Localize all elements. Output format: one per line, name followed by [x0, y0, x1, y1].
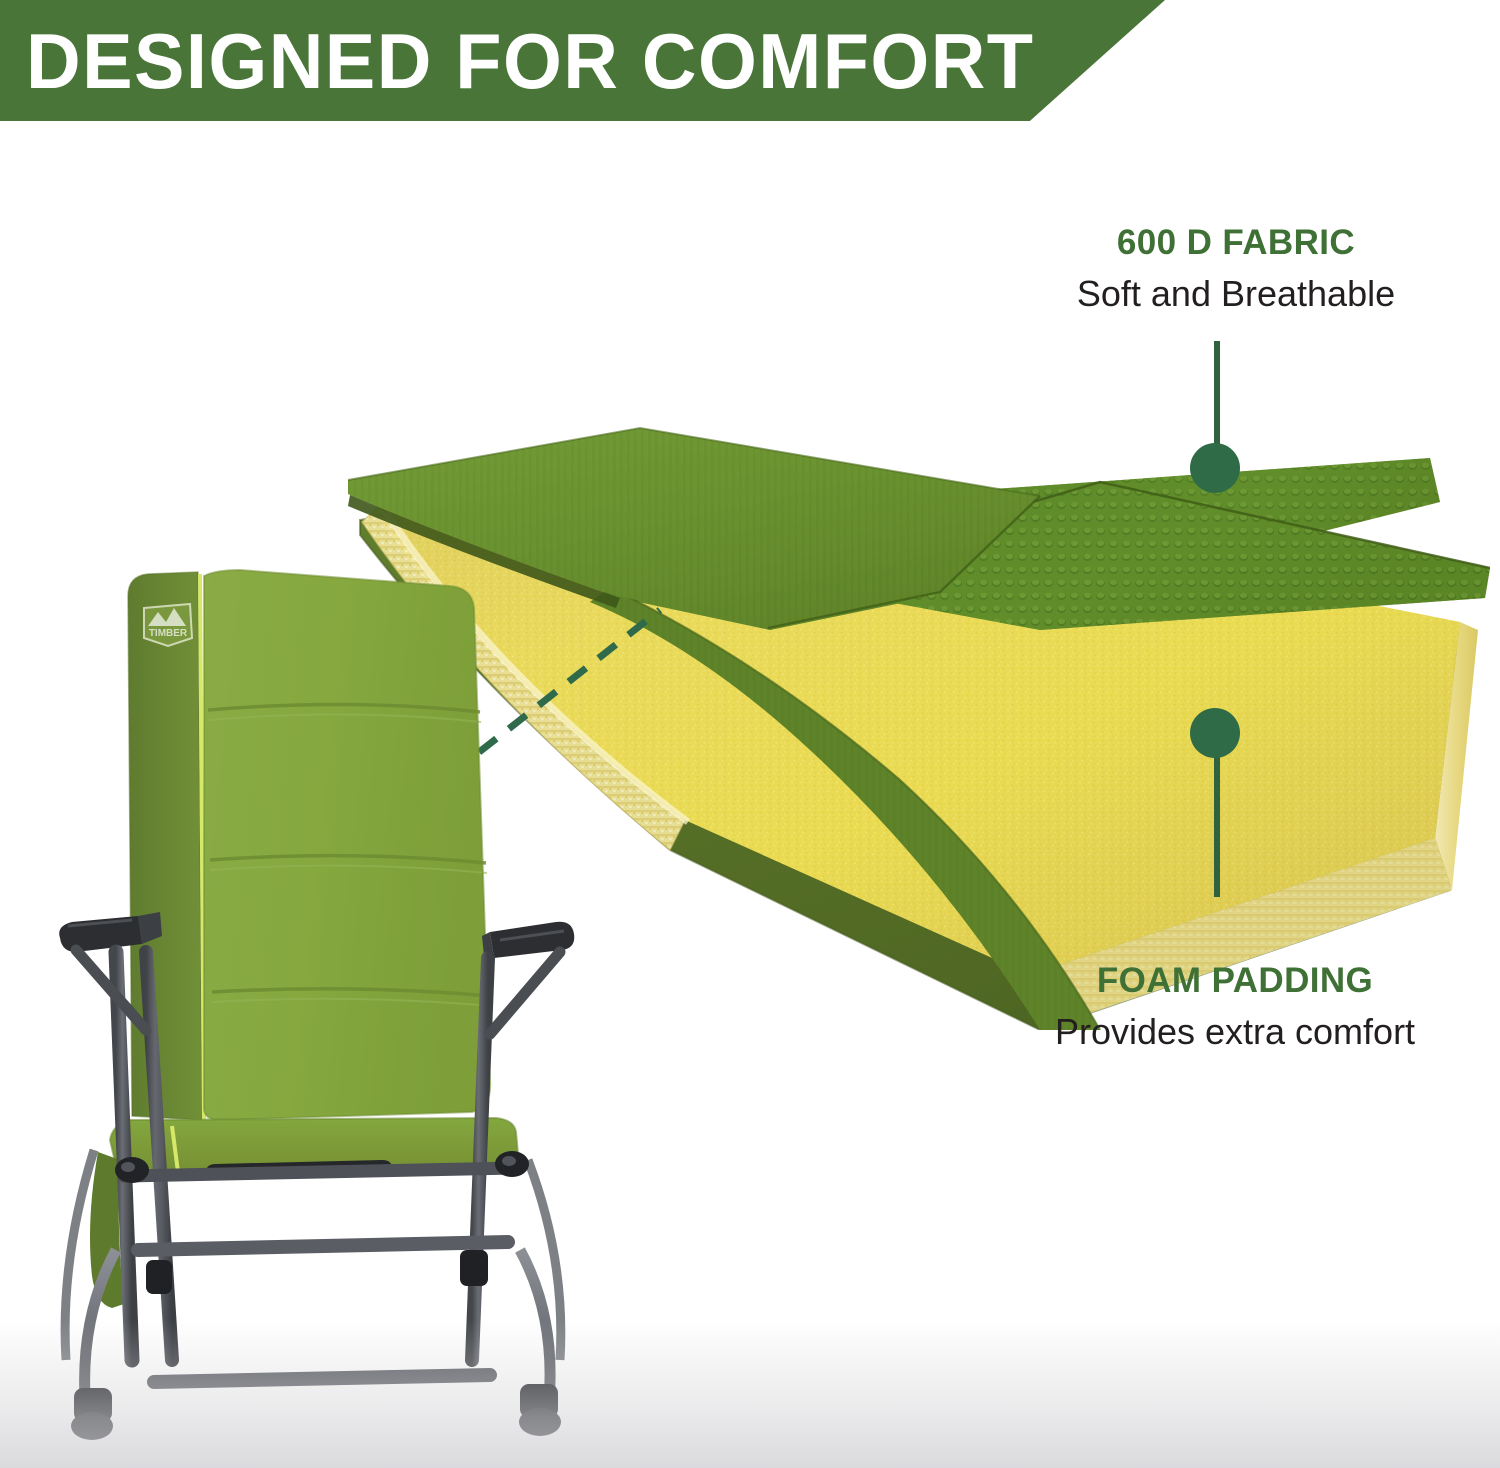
callout-dot-fabric [1190, 443, 1240, 493]
svg-text:TIMBER: TIMBER [149, 628, 188, 639]
leader-line-foam [1214, 745, 1220, 897]
callout-fabric-subtitle: Soft and Breathable [1030, 270, 1442, 318]
rocker-foot-right [519, 1384, 561, 1436]
frame-clamp-right [460, 1250, 488, 1286]
callout-fabric-title: 600 D FABRIC [1030, 222, 1442, 264]
product-chair: TIMBER [20, 560, 610, 1450]
callout-foam-title: FOAM PADDING [1010, 960, 1460, 1002]
callout-foam: FOAM PADDING Provides extra comfort [1010, 960, 1460, 1056]
page-title: DESIGNED FOR COMFORT [26, 13, 1034, 109]
chair-back-panel [204, 570, 491, 1120]
chair-back-side-panel [128, 572, 202, 1120]
callout-fabric: 600 D FABRIC Soft and Breathable [1030, 222, 1442, 318]
infographic-page: DESIGNED FOR COMFORT [0, 0, 1500, 1468]
callout-dot-foam [1190, 708, 1240, 758]
mountain-logo-icon: TIMBER [144, 604, 192, 646]
callout-foam-subtitle: Provides extra comfort [1010, 1008, 1460, 1056]
rocker-foot-left [71, 1388, 113, 1440]
frame-clamp-left [146, 1260, 172, 1294]
